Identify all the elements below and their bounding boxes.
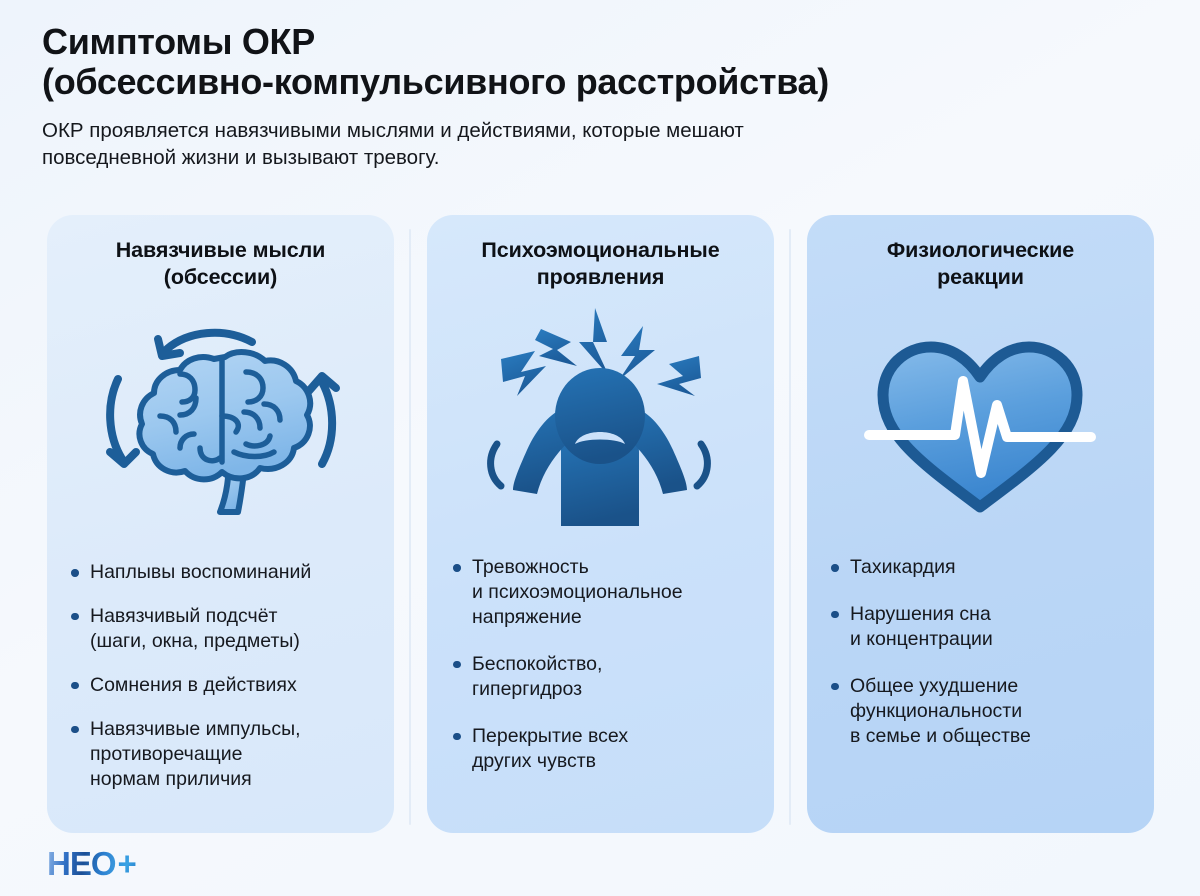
logo-wordmark: НЕО	[47, 847, 116, 880]
card-title-obsessive-thoughts: Навязчивые мысли (обсессии)	[71, 237, 370, 291]
card-psychoemotional: Психоэмоциональные проявления	[427, 215, 774, 833]
card-title-physiological: Физиологические реакции	[831, 237, 1130, 291]
infographic-page: Симптомы ОКР (обсессивно-компульсивного …	[0, 0, 1200, 896]
symptom-cards-row: Навязчивые мысли (обсессии)	[0, 215, 1200, 835]
list-item: Беспокойство, гипергидроз	[451, 652, 764, 702]
logo-plus-icon: +	[118, 847, 137, 880]
card-obsessive-thoughts: Навязчивые мысли (обсессии)	[47, 215, 394, 833]
page-subtitle: ОКР проявляется навязчивыми мыслями и де…	[42, 117, 1072, 171]
card-divider-1	[409, 229, 411, 825]
brand-logo: НЕО +	[47, 843, 137, 883]
brain-cycle-icon	[47, 307, 394, 532]
list-item: Навязчивые импульсы, противоречащие норм…	[69, 717, 380, 792]
stressed-person-icon	[427, 299, 774, 534]
card-title-psychoemotional: Психоэмоциональные проявления	[451, 237, 750, 291]
header: Симптомы ОКР (обсессивно-компульсивного …	[42, 22, 1162, 171]
list-item: Тревожность и психоэмоциональное напряже…	[451, 555, 764, 630]
list-item: Сомнения в действиях	[69, 673, 380, 698]
list-item: Нарушения сна и концентрации	[829, 602, 1144, 652]
bullet-list-physiological: Тахикардия Нарушения сна и концентрации …	[807, 555, 1154, 771]
page-title: Симптомы ОКР (обсессивно-компульсивного …	[42, 22, 1162, 103]
list-item: Перекрытие всех других чувств	[451, 724, 764, 774]
list-item: Наплывы воспоминаний	[69, 560, 380, 585]
card-divider-2	[789, 229, 791, 825]
bullet-list-psychoemotional: Тревожность и психоэмоциональное напряже…	[427, 555, 774, 796]
card-physiological: Физиологические реакции	[807, 215, 1154, 833]
heart-pulse-icon	[807, 315, 1154, 530]
list-item: Общее ухудшение функциональности в семье…	[829, 674, 1144, 749]
list-item: Тахикардия	[829, 555, 1144, 580]
list-item: Навязчивый подсчёт (шаги, окна, предметы…	[69, 604, 380, 654]
bullet-list-obsessive-thoughts: Наплывы воспоминаний Навязчивый подсчёт …	[47, 560, 394, 811]
